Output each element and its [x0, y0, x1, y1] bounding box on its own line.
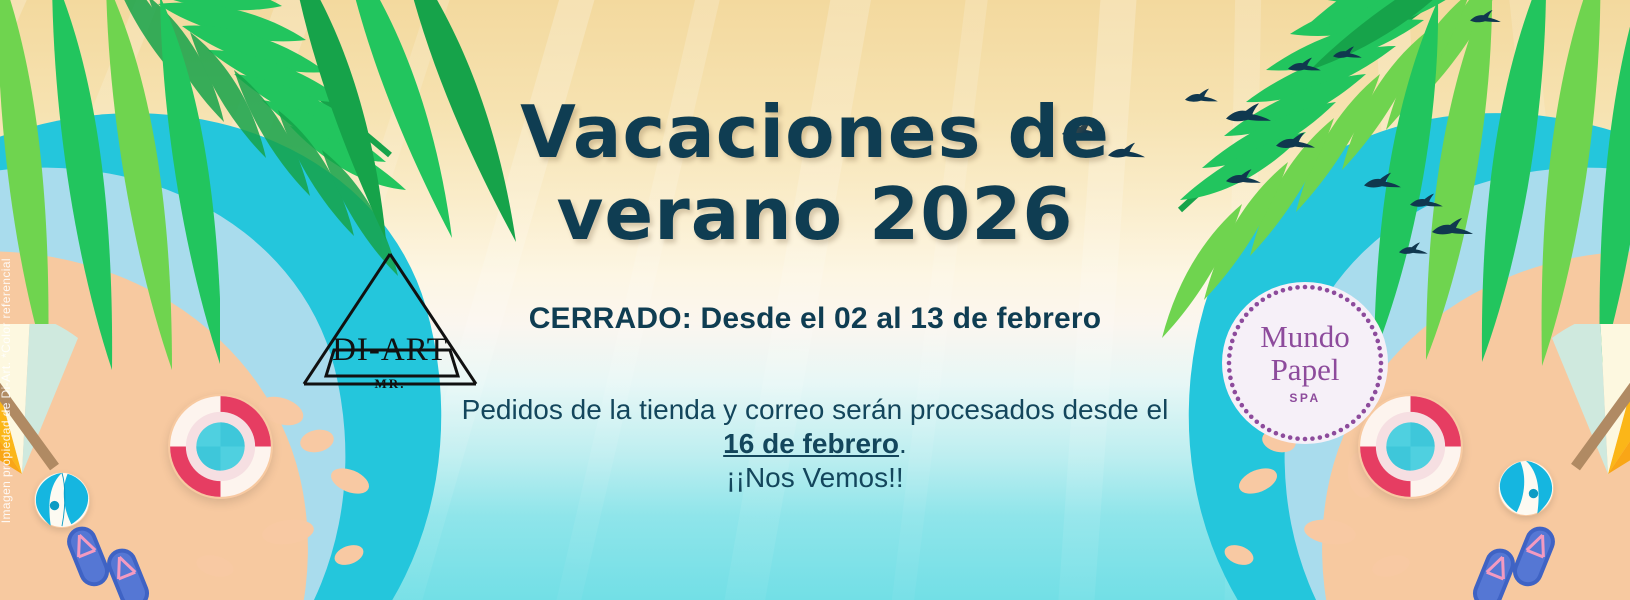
border-dot [1379, 361, 1384, 366]
border-dot [1351, 419, 1356, 424]
border-dot [1230, 383, 1235, 388]
border-dot [1345, 298, 1350, 303]
border-dot [1325, 288, 1330, 293]
border-dot [1332, 431, 1337, 436]
border-dot [1232, 332, 1237, 337]
border-dot [1361, 409, 1366, 414]
border-dot [1228, 346, 1233, 351]
border-dot [1295, 436, 1300, 441]
border-dot [1339, 428, 1344, 433]
border-dot [1345, 424, 1350, 429]
border-dot [1361, 312, 1366, 317]
border-dot [1378, 368, 1383, 373]
border-dot [1375, 383, 1380, 388]
border-dot [1249, 414, 1254, 419]
border-dot [1227, 353, 1232, 358]
copyright-watermark: Imagen propiedad de Di-Art. *Color refer… [0, 258, 13, 523]
border-dot [1240, 403, 1245, 408]
border-dot [1236, 325, 1241, 330]
border-dot [1366, 318, 1371, 323]
border-dot [1267, 294, 1272, 299]
border-dot [1378, 353, 1383, 358]
border-dot [1370, 325, 1375, 330]
border-dot [1332, 290, 1337, 295]
border-dot [1370, 397, 1375, 402]
border-dot [1375, 339, 1380, 344]
border-dot [1377, 346, 1382, 351]
border-dot [1377, 376, 1382, 381]
border-dot [1288, 435, 1293, 440]
border-dot [1227, 368, 1232, 373]
page-title-line-2: verano 2026 [0, 178, 1630, 250]
border-dot [1227, 361, 1232, 366]
border-dot [1356, 414, 1361, 419]
body-text-line-3: ¡¡Nos Vemos!! [0, 462, 1630, 494]
border-dot [1244, 409, 1249, 414]
border-dot [1260, 298, 1265, 303]
diart-triangle-icon [300, 250, 480, 395]
border-dot [1303, 285, 1308, 290]
resume-date: 16 de febrero [723, 428, 899, 459]
border-dot [1281, 288, 1286, 293]
border-dot [1260, 424, 1265, 429]
border-dot [1318, 435, 1323, 440]
border-dot [1356, 307, 1361, 312]
border-dot [1325, 433, 1330, 438]
border-dot [1249, 307, 1254, 312]
border-dot [1274, 290, 1279, 295]
dotted-circle-border-icon [1222, 282, 1388, 444]
border-dot [1240, 318, 1245, 323]
border-dot [1267, 428, 1272, 433]
border-dot [1281, 433, 1286, 438]
diart-wordmark: DI-ART [300, 332, 480, 369]
border-dot [1318, 286, 1323, 291]
border-dot [1373, 332, 1378, 337]
border-dot [1288, 286, 1293, 291]
border-dot [1310, 436, 1315, 441]
border-dot [1303, 437, 1308, 442]
border-dot [1351, 302, 1356, 307]
border-dot [1228, 376, 1233, 381]
border-dot [1230, 339, 1235, 344]
page-title-line-1: Vacaciones de [0, 96, 1630, 168]
border-dot [1244, 312, 1249, 317]
diart-logo: DI-ART MR. [300, 250, 480, 395]
border-dot [1236, 397, 1241, 402]
vacation-banner: Vacaciones de verano 2026 CERRADO: Desde… [0, 0, 1630, 600]
diart-trademark: MR. [300, 376, 480, 392]
mundo-papel-logo: Mundo Papel SPA [1222, 282, 1388, 444]
border-dot [1310, 285, 1315, 290]
border-dot [1274, 431, 1279, 436]
resume-date-period: . [899, 428, 907, 459]
border-dot [1254, 419, 1259, 424]
border-dot [1232, 390, 1237, 395]
border-dot [1339, 294, 1344, 299]
border-dot [1366, 403, 1371, 408]
border-dot [1373, 390, 1378, 395]
border-dot [1254, 302, 1259, 307]
border-dot [1295, 285, 1300, 290]
